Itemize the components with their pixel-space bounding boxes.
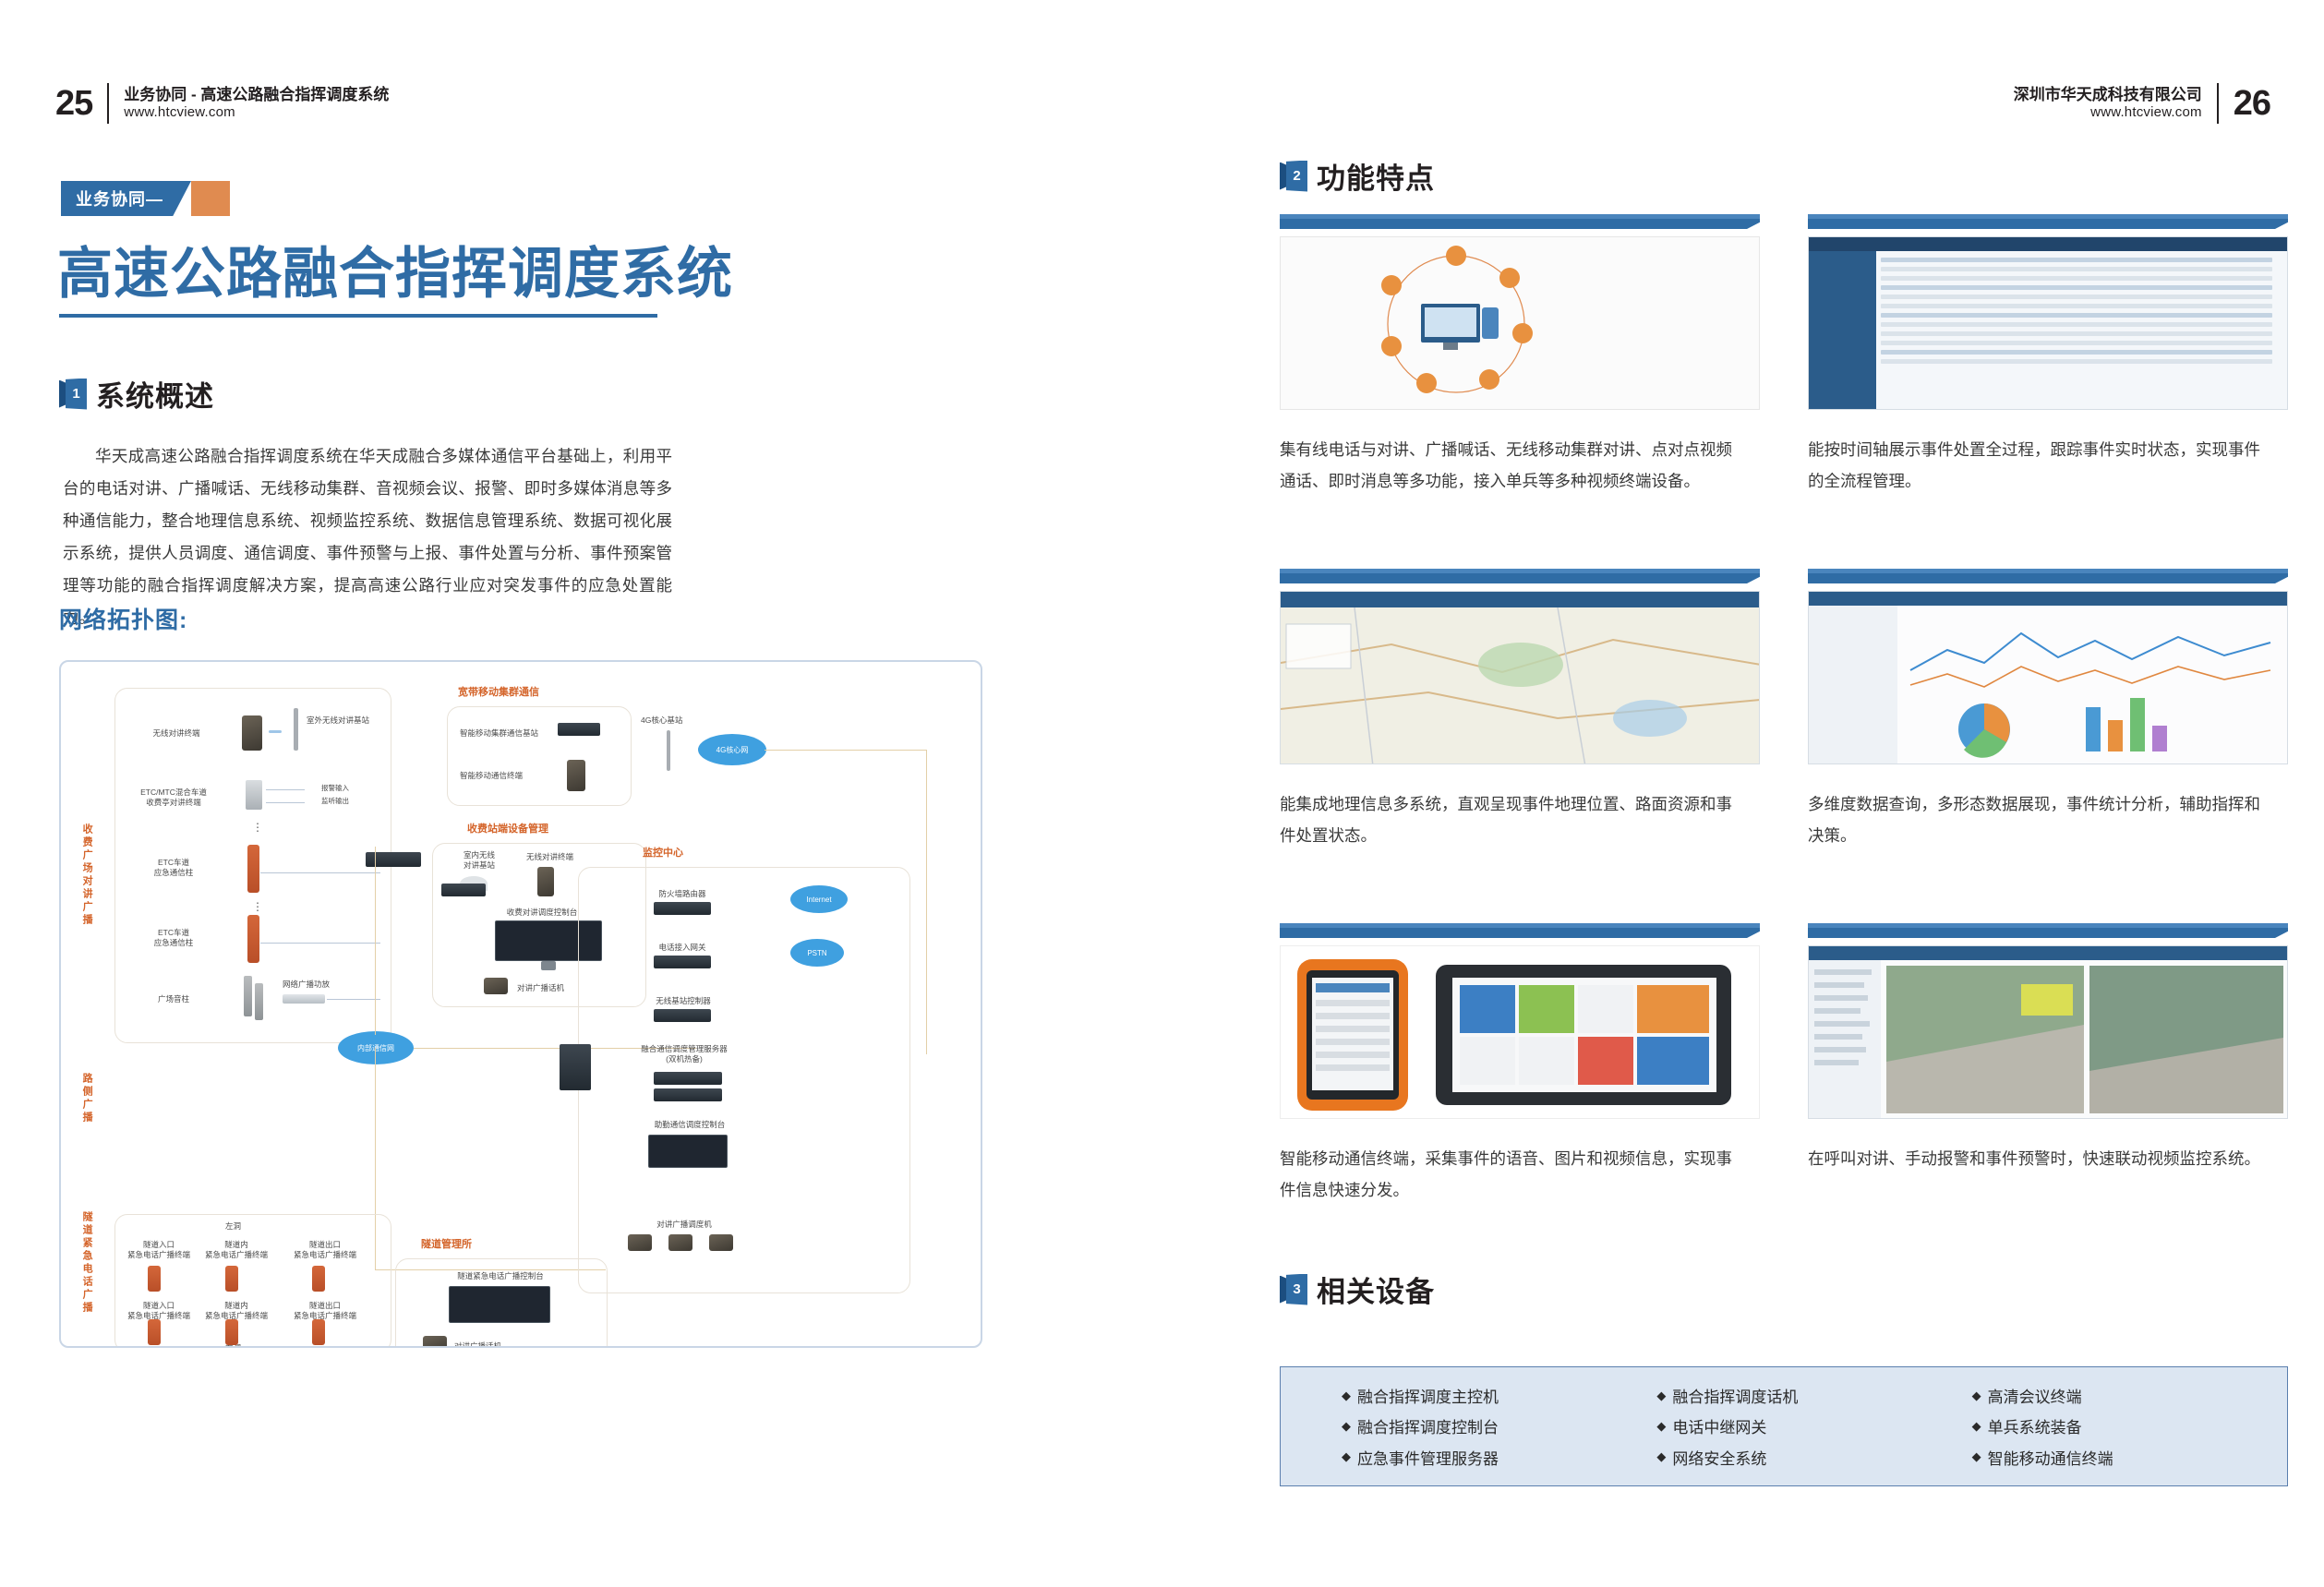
topo-label-fusion-server: 融合通信调度管理服务器 (双机热备) bbox=[615, 1044, 753, 1065]
feature-caption-2: 能按时间轴展示事件处置全过程，跟踪事件实时状态，实现事件的全流程管理。 bbox=[1808, 434, 2270, 497]
brochure-spread: 25 业务协同 - 高速公路融合指挥调度系统 www.htcview.com 深… bbox=[0, 0, 2324, 1587]
topo-icon-outdoor-base bbox=[294, 708, 298, 751]
topo-icon-wireless-base-ctrl bbox=[654, 1009, 711, 1022]
header-url-right: www.htcview.com bbox=[2014, 104, 2202, 122]
topo-group-title-broadband: 宽带移动集群通信 bbox=[458, 684, 539, 699]
topo-label-listen-out-1: 监听输出 bbox=[321, 797, 349, 806]
topo-label-4g-base: 4G核心基站 bbox=[641, 715, 682, 726]
topo-cloud-internet: Internet bbox=[790, 885, 848, 913]
topo-icon-tunnel-pole-1 bbox=[148, 1266, 161, 1292]
feature-caption-5: 智能移动通信终端，采集事件的语音、图片和视频信息，实现事件信息快速分发。 bbox=[1280, 1143, 1741, 1206]
diamond-bullet-icon: ◆ bbox=[1656, 1419, 1666, 1434]
equipment-item: ◆应急事件管理服务器 bbox=[1342, 1442, 1656, 1473]
feature-shot-4 bbox=[1808, 591, 2288, 764]
topo-icon-tunnel-console-monitor bbox=[449, 1286, 550, 1323]
topo-label-pstn: PSTN bbox=[807, 949, 826, 957]
page-number-right: 26 bbox=[2234, 86, 2270, 121]
topo-label-tunnel-phone: 对讲广播话机 bbox=[454, 1341, 501, 1348]
topo-line-pole-2 bbox=[260, 943, 380, 944]
topology-title: 网络拓扑图: bbox=[59, 602, 187, 635]
rugged-devices-icon bbox=[1281, 946, 1760, 1119]
topo-icon-broadcast-console-b bbox=[668, 1234, 692, 1251]
feature-caption-4: 多维度数据查询，多形态数据展现，事件统计分析，辅助指挥和决策。 bbox=[1808, 788, 2270, 851]
topo-label-tunnel-entrance-1: 隧道入口 紧急电话广播终端 bbox=[124, 1240, 194, 1261]
section-number-text-3: 3 bbox=[1293, 1282, 1300, 1296]
diamond-bullet-icon: ◆ bbox=[1972, 1449, 1981, 1464]
topo-label-radio-terminal-2: 无线对讲终端 bbox=[526, 852, 573, 862]
topo-icon-tunnel-pole-4 bbox=[148, 1319, 161, 1345]
topo-label-left-line: 左洞 bbox=[225, 1221, 241, 1232]
topo-arrow-wireless bbox=[269, 730, 282, 733]
topo-icon-broadcast-console-c bbox=[709, 1234, 733, 1251]
equipment-item: ◆智能移动通信终端 bbox=[1972, 1442, 2287, 1473]
topo-vlabel-tunnel: 隧道紧急电话广播 bbox=[81, 1211, 92, 1348]
topo-label-4g-cloud: 4G核心网 bbox=[716, 745, 749, 755]
topo-cloud-pstn: PSTN bbox=[790, 939, 844, 967]
gis-map-icon bbox=[1281, 607, 1760, 764]
topo-icon-broadcast-console-a bbox=[628, 1234, 652, 1251]
equipment-item: ◆电话中继网关 bbox=[1656, 1411, 1971, 1441]
topo-icon-tunnel-pole-6 bbox=[312, 1319, 325, 1345]
topo-label-tunnel-inside-1: 隧道内 紧急电话广播终端 bbox=[201, 1240, 271, 1261]
topo-icon-tunnel-pole-5 bbox=[225, 1319, 238, 1345]
topo-icon-tunnel-phone bbox=[423, 1336, 447, 1348]
topo-icon-booth-terminal bbox=[246, 780, 262, 810]
section-heading-overview: 1 系统概述 bbox=[59, 373, 214, 415]
section-heading-features: 2 功能特点 bbox=[1280, 155, 1435, 197]
feature-shot-1 bbox=[1280, 236, 1760, 410]
section-number-icon-3: 3 bbox=[1280, 1274, 1307, 1305]
topo-line-alarm-1 bbox=[266, 789, 305, 790]
topo-icon-core-switch bbox=[560, 1044, 591, 1090]
feature-caption-3: 能集成地理信息多系统，直观呈现事件地理位置、路面资源和事件处置状态。 bbox=[1280, 788, 1741, 851]
topo-icon-fusion-server-a bbox=[654, 1072, 722, 1085]
topo-icon-broadcast-phone bbox=[484, 978, 508, 994]
diamond-bullet-icon: ◆ bbox=[1972, 1419, 1981, 1434]
section-number-text: 1 bbox=[72, 387, 79, 401]
header-company-right: 深圳市华天成科技有限公司 bbox=[2014, 85, 2202, 104]
equipment-item: ◆融合指挥调度控制台 bbox=[1342, 1411, 1656, 1441]
topo-icon-tunnel-pole-3 bbox=[312, 1266, 325, 1292]
topo-label-radio-terminal: 无线对讲终端 bbox=[126, 728, 227, 739]
topo-label-internet: Internet bbox=[806, 896, 831, 904]
section-heading-equipment: 3 相关设备 bbox=[1280, 1268, 1435, 1310]
topo-icon-switch-toll bbox=[366, 852, 421, 867]
equipment-label: 应急事件管理服务器 bbox=[1357, 1446, 1499, 1469]
feature-bar-3 bbox=[1280, 569, 1760, 583]
header-title-left: 业务协同 - 高速公路融合指挥调度系统 bbox=[124, 85, 389, 104]
topo-label-phone-gateway: 电话接入网关 bbox=[632, 943, 733, 953]
topo-label-firewall: 防火墙路由器 bbox=[632, 889, 733, 899]
feature-shot-3 bbox=[1280, 591, 1760, 764]
header-divider-left bbox=[107, 83, 109, 124]
topo-label-alarm-in-1: 报警输入 bbox=[321, 784, 349, 793]
section-title-text: 系统概述 bbox=[96, 373, 214, 415]
topo-line-net-amp bbox=[327, 999, 380, 1000]
equipment-item: ◆网络安全系统 bbox=[1656, 1442, 1971, 1473]
topo-line-listen-1 bbox=[266, 802, 305, 803]
equipment-label: 单兵系统装备 bbox=[1988, 1414, 2082, 1437]
data-dashboard-icon bbox=[1809, 606, 2288, 764]
equipment-label: 智能移动通信终端 bbox=[1988, 1446, 2113, 1469]
topo-vlabel-toll-plaza: 收费广场对讲广播 bbox=[81, 824, 92, 1008]
header-divider-right bbox=[2217, 83, 2219, 124]
diamond-bullet-icon: ◆ bbox=[1656, 1449, 1666, 1464]
topo-label-aux-console: 助勤通信调度控制台 bbox=[620, 1120, 759, 1130]
convergence-diagram-icon bbox=[1281, 237, 1760, 410]
topo-icon-plaza-speaker-b bbox=[255, 983, 263, 1020]
topo-label-net-amp: 网络广播功放 bbox=[283, 980, 330, 990]
topo-icon-smart-base bbox=[558, 723, 600, 736]
topo-label-smart-terminal: 智能移动通信终端 bbox=[460, 771, 523, 781]
topo-icon-smart-terminal bbox=[567, 760, 585, 791]
equipment-label: 电话中继网关 bbox=[1672, 1414, 1766, 1437]
topo-group-title-monitor: 监控中心 bbox=[643, 845, 683, 860]
section-number-icon: 1 bbox=[59, 379, 87, 410]
topo-label-etc-pole-2: ETC车道 应急通信柱 bbox=[118, 928, 229, 949]
equipment-label: 融合指挥调度主控机 bbox=[1357, 1384, 1499, 1407]
topo-label-tunnel-exit-2: 隧道出口 紧急电话广播终端 bbox=[290, 1301, 360, 1322]
topo-icon-fusion-server-b bbox=[654, 1088, 722, 1101]
header-left: 25 业务协同 - 高速公路融合指挥调度系统 www.htcview.com bbox=[55, 83, 389, 124]
title-underline bbox=[59, 314, 657, 318]
diamond-bullet-icon: ◆ bbox=[1342, 1419, 1351, 1434]
feature-bar-4 bbox=[1808, 569, 2288, 583]
equipment-label: 融合指挥调度话机 bbox=[1672, 1384, 1798, 1407]
feature-bar-6 bbox=[1808, 923, 2288, 938]
category-ribbon-label: 业务协同— bbox=[61, 181, 191, 216]
topo-cloud-4g: 4G核心网 bbox=[698, 734, 766, 765]
feature-bar-5 bbox=[1280, 923, 1760, 938]
header-url-left: www.htcview.com bbox=[124, 104, 389, 122]
equipment-label: 高清会议终端 bbox=[1988, 1384, 2082, 1407]
header-right: 深圳市华天成科技有限公司 www.htcview.com 26 bbox=[2014, 83, 2270, 124]
topo-icon-etc-pole-1 bbox=[247, 845, 259, 893]
topo-icon-radio-terminal bbox=[242, 715, 262, 751]
feature-caption-6: 在呼叫对讲、手动报警和事件预警时，快速联动视频监控系统。 bbox=[1808, 1143, 2270, 1174]
equipment-item: ◆高清会议终端 bbox=[1972, 1380, 2287, 1411]
topo-label-smart-base: 智能移动集群通信基站 bbox=[460, 728, 538, 739]
feature-bar-1 bbox=[1280, 214, 1760, 229]
topo-label-broadcast-phone: 对讲广播话机 bbox=[517, 983, 564, 993]
topo-icon-monitor-stand bbox=[541, 961, 556, 970]
category-ribbon: 业务协同— bbox=[61, 181, 230, 216]
topo-label-broadcast-console: 对讲广播调度机 bbox=[615, 1220, 753, 1230]
topo-group-title-tunnel: 隧道管理所 bbox=[421, 1236, 472, 1251]
topo-icon-firewall bbox=[654, 902, 711, 915]
diamond-bullet-icon: ◆ bbox=[1342, 1389, 1351, 1403]
topo-group-title-toll-station: 收费站端设备管理 bbox=[467, 821, 548, 836]
topo-line-center-vert bbox=[926, 750, 927, 1054]
page-title: 高速公路融合指挥调度系统 bbox=[57, 229, 733, 309]
feature-shot-5 bbox=[1280, 945, 1760, 1119]
topo-label-outdoor-base: 室外无线对讲基站 bbox=[307, 715, 399, 726]
topo-label-tunnel-exit-1: 隧道出口 紧急电话广播终端 bbox=[290, 1240, 360, 1261]
topo-label-etc-pole-1: ETC车道 应急通信柱 bbox=[118, 858, 229, 879]
topo-label-indoor-base: 室内无线 对讲基站 bbox=[449, 850, 510, 872]
equipment-item: ◆融合指挥调度主控机 bbox=[1342, 1380, 1656, 1411]
topo-icon-net-amp bbox=[283, 994, 325, 1004]
equipment-label: 网络安全系统 bbox=[1672, 1446, 1766, 1469]
feature-bar-2 bbox=[1808, 214, 2288, 229]
equipment-item: ◆融合指挥调度话机 bbox=[1656, 1380, 1971, 1411]
equipment-label: 融合指挥调度控制台 bbox=[1357, 1414, 1499, 1437]
topo-line-4g-to-center bbox=[765, 750, 927, 751]
topo-icon-etc-pole-2 bbox=[247, 915, 259, 963]
section-number-icon-2: 2 bbox=[1280, 161, 1307, 192]
page-number-left: 25 bbox=[55, 86, 92, 121]
topo-label-internal-net: 内部通信网 bbox=[357, 1043, 394, 1053]
topo-icon-4g-base bbox=[667, 730, 670, 771]
topo-line-pole-1 bbox=[260, 872, 380, 873]
topo-vlabel-roadside: 路侧广播 bbox=[81, 1073, 92, 1174]
topo-group-broadband bbox=[447, 706, 632, 806]
network-topology-diagram: 收费广场对讲广播 路侧广播 隧道紧急电话广播 无线对讲终端 室外无线对讲基站 E… bbox=[59, 660, 982, 1348]
equipment-list-box: ◆融合指挥调度主控机 ◆融合指挥调度话机 ◆高清会议终端 ◆融合指挥调度控制台 … bbox=[1280, 1366, 2288, 1486]
topo-line-internal-up bbox=[375, 847, 376, 1035]
section-title-text-2: 功能特点 bbox=[1317, 155, 1435, 197]
topo-icon-aux-console bbox=[648, 1135, 728, 1168]
topo-icon-tunnel-pole-2 bbox=[225, 1266, 238, 1292]
topo-label-plaza-speaker: 广场音柱 bbox=[127, 994, 220, 1004]
topo-label-tunnel-console-title: 隧道紧急电话广播控制台 bbox=[408, 1271, 593, 1281]
section-number-text-2: 2 bbox=[1293, 169, 1300, 183]
feature-shot-2 bbox=[1808, 236, 2288, 410]
category-ribbon-accent bbox=[191, 181, 230, 216]
topo-cloud-internal: 内部通信网 bbox=[338, 1031, 414, 1064]
diamond-bullet-icon: ◆ bbox=[1342, 1449, 1351, 1464]
video-linkage-icon bbox=[1809, 960, 2288, 1119]
topo-icon-plaza-speaker-a bbox=[244, 976, 252, 1016]
diamond-bullet-icon: ◆ bbox=[1656, 1389, 1666, 1403]
diamond-bullet-icon: ◆ bbox=[1972, 1389, 1981, 1403]
topo-icon-phone-gateway bbox=[654, 956, 711, 968]
feature-shot-6 bbox=[1808, 945, 2288, 1119]
topo-icon-switch-station bbox=[441, 884, 486, 896]
topo-label-etc-mtc-booth: ETC/MTC混合车道 收费亭对讲终端 bbox=[118, 787, 229, 809]
feature-caption-1: 集有线电话与对讲、广播喊话、无线移动集群对讲、点对点视频通话、即时消息等多功能，… bbox=[1280, 434, 1741, 497]
equipment-item: ◆单兵系统装备 bbox=[1972, 1411, 2287, 1441]
topo-label-wireless-base-ctrl: 无线基站控制器 bbox=[626, 996, 741, 1006]
section-title-text-3: 相关设备 bbox=[1317, 1268, 1435, 1310]
topo-icon-radio-terminal-2 bbox=[537, 867, 554, 896]
